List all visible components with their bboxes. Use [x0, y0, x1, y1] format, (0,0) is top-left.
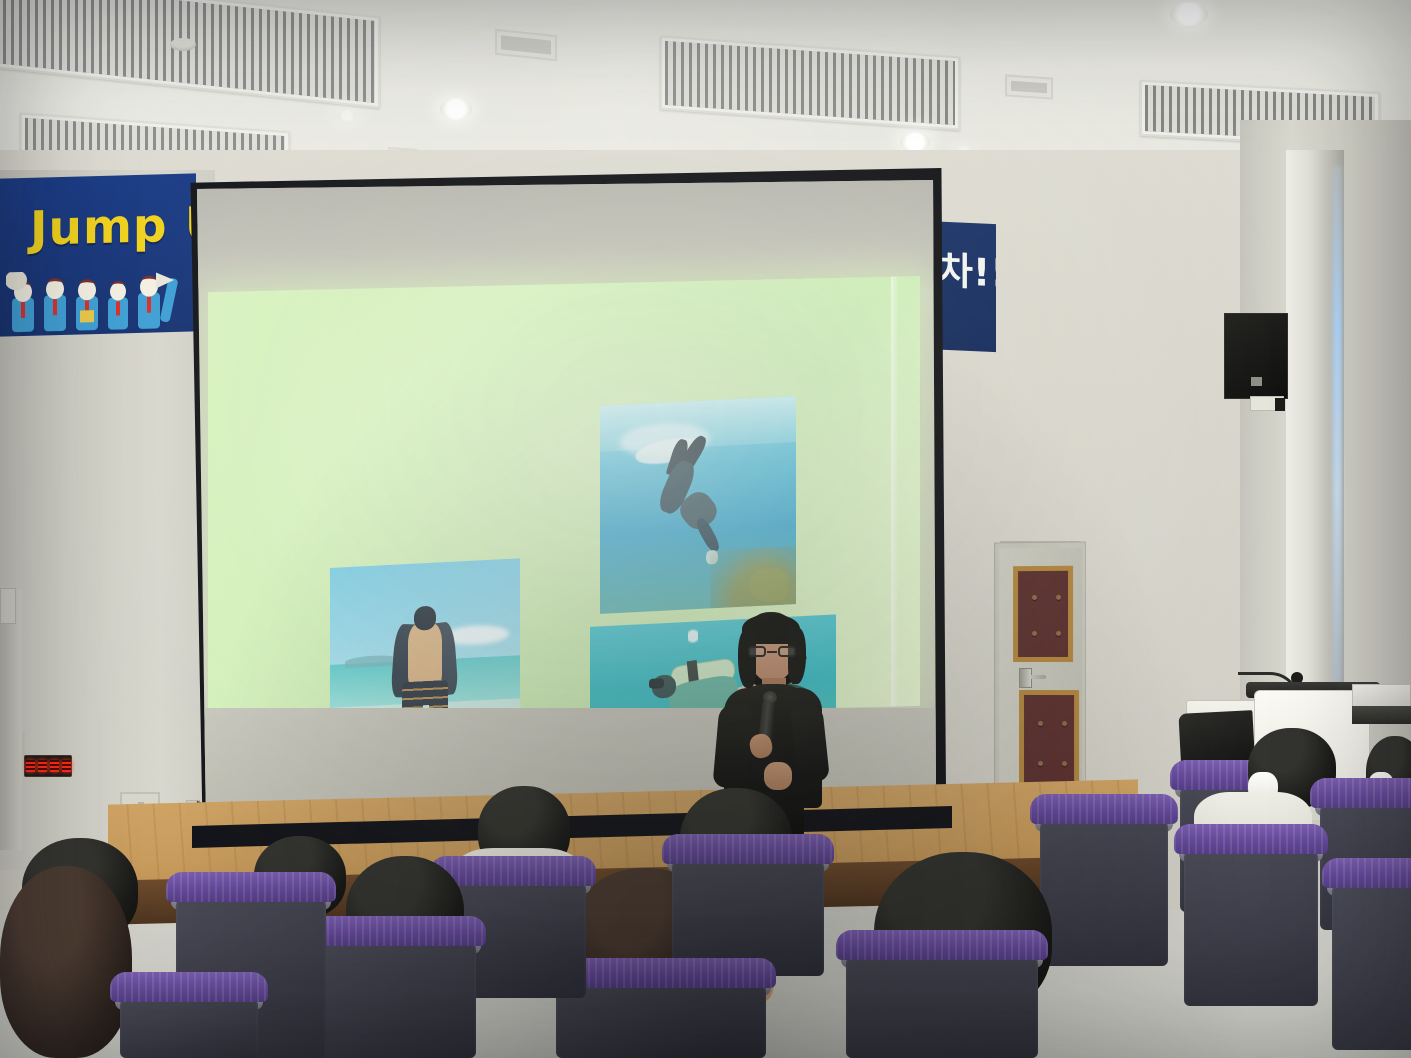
ceiling-downlight — [440, 98, 472, 120]
smoke-detector — [170, 38, 196, 51]
seat[interactable] — [556, 980, 766, 1058]
ceiling-downlight — [338, 110, 356, 121]
seat[interactable] — [846, 952, 1038, 1058]
banner-cartoon-figures — [6, 268, 192, 335]
banner-left-text: Jump U — [30, 197, 196, 257]
ceiling-downlight — [1170, 2, 1208, 26]
screen-seam — [891, 276, 898, 706]
auditorium-presentation-photo: Jump U — [0, 0, 1411, 1058]
conduit — [22, 733, 25, 757]
wall-junction-box — [0, 588, 16, 624]
speaker-mount — [1250, 396, 1284, 411]
side-desk-edge — [1352, 706, 1411, 724]
led-indicator-panel — [24, 755, 72, 777]
seat[interactable] — [1332, 880, 1411, 1050]
freediver-photo — [600, 396, 796, 614]
attendee-head — [0, 866, 132, 1058]
fluorescent-troffer — [660, 36, 960, 131]
presenter-hair-left — [738, 630, 756, 688]
screen-unlit-top — [194, 180, 936, 288]
door-panel-upper — [1013, 566, 1073, 662]
seat[interactable] — [1040, 816, 1168, 966]
hvac-vent — [495, 29, 557, 62]
fluorescent-troffer — [0, 0, 380, 108]
seat[interactable] — [1184, 846, 1318, 1006]
door-handle[interactable] — [1019, 668, 1032, 688]
seat[interactable] — [316, 938, 476, 1058]
auditorium-door[interactable] — [994, 541, 1086, 800]
presenter-arm-right — [790, 703, 830, 784]
left-wall-edge — [0, 590, 22, 850]
presenter-hand-lower — [764, 762, 792, 790]
ceiling-downlight — [900, 132, 930, 152]
banner-left: Jump U — [0, 173, 196, 336]
seat[interactable] — [120, 994, 258, 1058]
glasses-icon — [748, 646, 796, 657]
accent-light-strip — [1333, 165, 1342, 690]
wall-speaker-icon — [1224, 313, 1288, 399]
hvac-vent — [1005, 74, 1053, 99]
